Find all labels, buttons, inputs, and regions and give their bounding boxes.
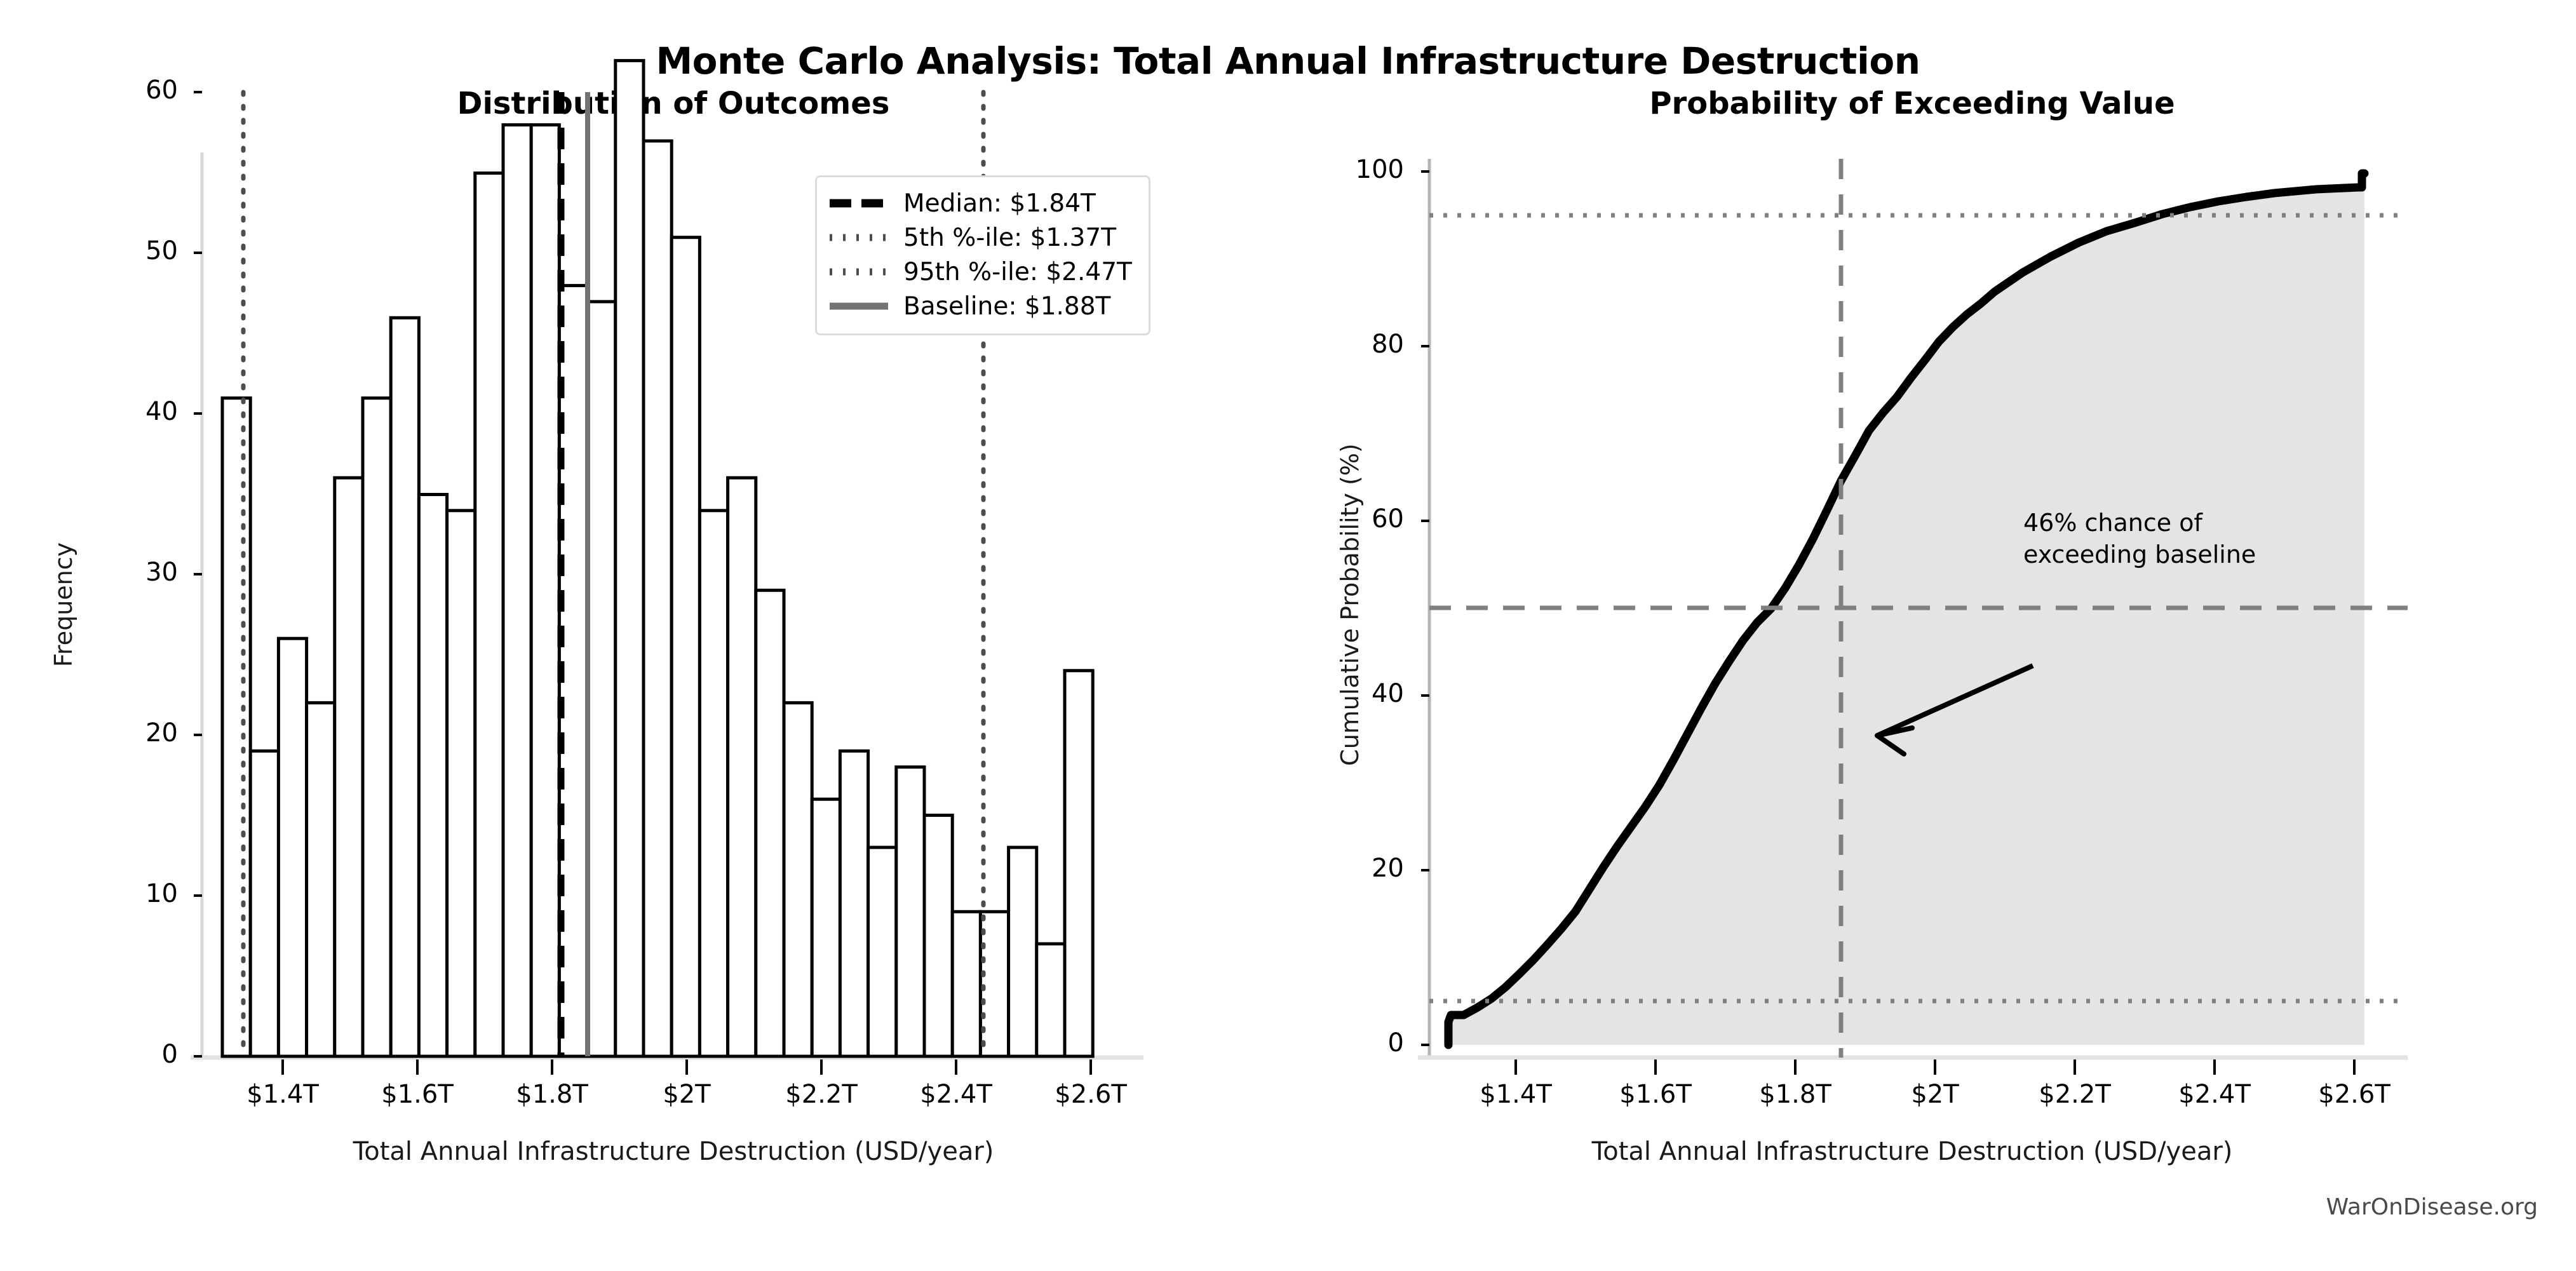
right-ytick-label: 20 xyxy=(1302,854,1404,883)
cdf-annotation-line1: 46% chance of xyxy=(2023,508,2202,537)
right-ytick-label: 40 xyxy=(1302,679,1404,708)
right-ytick-label: 100 xyxy=(1302,155,1404,184)
right-xtick-label: $1.4T xyxy=(1452,1080,1579,1109)
right-xtick-label: $1.6T xyxy=(1592,1080,1719,1109)
figure-root: Monte Carlo Analysis: Total Annual Infra… xyxy=(0,0,2576,1271)
right-xtick-label: $2T xyxy=(1871,1080,1999,1109)
cdf-annotation-line2: exceeding baseline xyxy=(2023,540,2256,569)
right-xtick-label: $2.4T xyxy=(2151,1080,2278,1109)
right-x-ticks xyxy=(1516,1059,2354,1075)
right-xtick-label: $2.6T xyxy=(2291,1080,2418,1109)
right-xtick-label: $2.2T xyxy=(2011,1080,2138,1109)
right-ytick-label: 80 xyxy=(1302,330,1404,359)
watermark: WarOnDisease.org xyxy=(2326,1194,2538,1220)
right-ytick-label: 60 xyxy=(1302,504,1404,534)
right-xtick-label: $1.8T xyxy=(1732,1080,1859,1109)
right-ytick-label: 0 xyxy=(1302,1028,1404,1058)
